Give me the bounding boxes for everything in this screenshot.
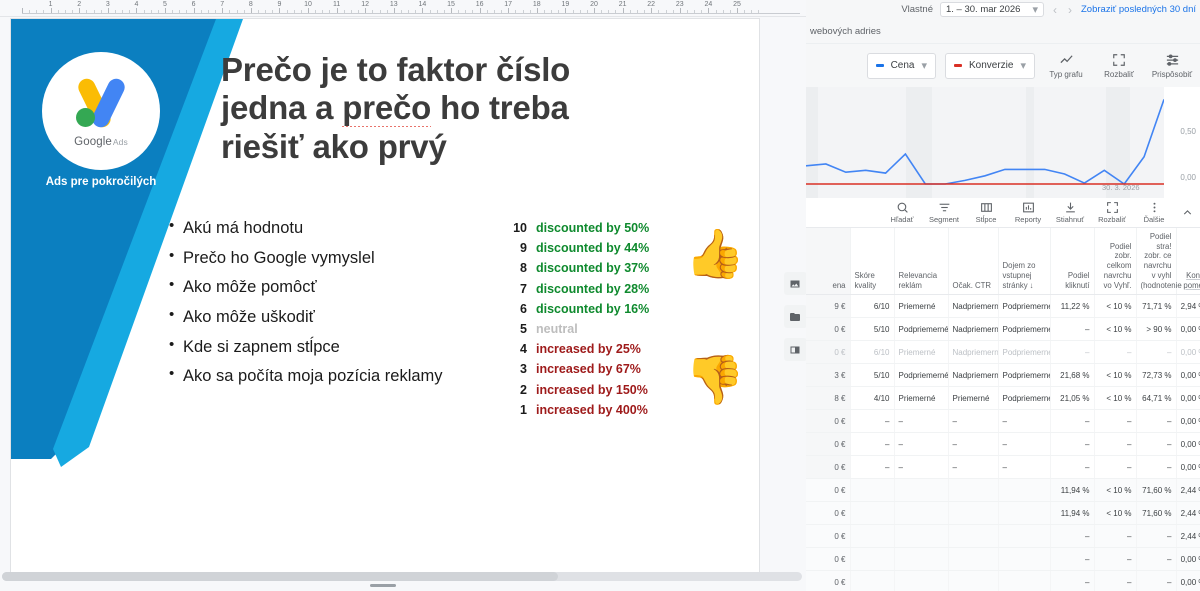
scale-number: 4 [505,342,527,356]
scale-label: discounted by 44% [536,241,649,255]
search-button[interactable]: Hľadať [882,201,922,224]
table-header-row: enaSkóre kvalityRelevancia reklámOčak. C… [806,228,1200,295]
table-cell-konv: 2,44 % [1176,502,1200,525]
ruler-tick-minor [415,10,416,13]
resize-grip[interactable] [370,584,396,587]
column-header[interactable]: Podiel zobr. celkom navrchu vo Vyhľ. [1094,228,1136,295]
scale-row: 4increased by 25% [505,342,690,356]
ruler-tick-minor [380,10,381,13]
date-range-picker[interactable]: 1. – 30. mar 2026 ▾ [940,2,1044,17]
table-cell-podiel_zobr: – [1094,456,1136,479]
table-cell-podiel_strat: 71,60 % [1136,502,1176,525]
bullet-item: Akú má hodnotu [169,219,499,237]
table-row[interactable]: 0 €11,94 %< 10 %71,60 %2,44 % [806,479,1200,502]
ruler-tick-minor [558,10,559,13]
table-row[interactable]: 9 €6/10PriemernéNadpriemernéPodpriemerné… [806,295,1200,318]
table-cell-konv: 2,94 % [1176,295,1200,318]
metrics-table-wrapper[interactable]: enaSkóre kvalityRelevancia reklámOčak. C… [806,228,1200,591]
table-cell-dojem [998,525,1050,548]
reports-label: Reporty [1015,215,1041,224]
column-header[interactable]: Relevancia reklám [894,228,948,295]
chart-type-button[interactable]: Typ grafu [1044,52,1088,79]
ruler-tick-minor [401,10,402,13]
ruler-tick-minor [351,10,352,13]
ruler-tick-minor [666,10,667,13]
column-header[interactable]: Skóre kvality [850,228,894,295]
column-header-label: Relevancia reklám [899,271,938,290]
ruler-number: 10 [304,1,312,8]
table-cell-ctr: – [948,410,998,433]
column-header-label: Skóre kvality [855,271,877,290]
table-cell-relevancia: Podpriemerné [894,364,948,387]
table-cell-relevancia [894,479,948,502]
table-row[interactable]: 0 €6/10PriemernéNadpriemernéPodpriemerné… [806,341,1200,364]
ruler-tick [194,8,195,13]
table-cell-podiel_zobr: – [1094,525,1136,548]
ruler-tick-minor [758,10,759,13]
table-cell-cena: 0 € [806,433,850,456]
scale-number: 8 [505,261,527,275]
table-row[interactable]: 0 €–––0,00 % [806,571,1200,591]
title-spellcheck-word: prečo [342,89,431,127]
chart-expand-button[interactable]: Rozbaliť [1097,53,1141,79]
table-cell-podiel_klik: – [1050,433,1094,456]
table-row[interactable]: 0 €–––0,00 % [806,548,1200,571]
ruler-tick-minor [437,10,438,13]
date-range-value: 1. – 30. mar 2026 [946,4,1020,15]
table-cell-relevancia: Priemerné [894,341,948,364]
bullet-list[interactable]: Akú má hodnotuPrečo ho Google vymyslelAk… [169,219,499,397]
table-cell-podiel_strat: – [1136,548,1176,571]
table-row[interactable]: 0 €–––––––0,00 % [806,433,1200,456]
ruler-tick-minor [151,10,152,13]
table-cell-podiel_klik: – [1050,341,1094,364]
bullet-item: Ako sa počíta moja pozícia reklamy [169,367,499,385]
ruler-tick-minor [387,10,388,13]
scale-label: discounted by 16% [536,302,649,316]
ruler-number: 13 [390,1,398,8]
ruler-tick-minor [573,10,574,13]
table-cell-podiel_strat: – [1136,410,1176,433]
ruler-tick [480,8,481,13]
date-preset-label: Vlastné [901,4,933,15]
previous-period-icon[interactable]: ‹ [1051,3,1059,17]
ruler-tick-minor [673,10,674,13]
table-cell-cena: 0 € [806,456,850,479]
ruler-tick-minor [229,10,230,13]
table-cell-podiel_strat: – [1136,525,1176,548]
title-line-1: Prečo je to faktor číslo [221,51,570,88]
table-toolbar: Hľadať Segment Stĺpce Reporty Stiahnuť R… [806,198,1200,228]
scale-row: 6discounted by 16% [505,302,690,316]
table-cell-skore: 5/10 [850,318,894,341]
table-row[interactable]: 3 €5/10PodpriemernéNadpriemernéPodprieme… [806,364,1200,387]
ruler-tick-minor [408,10,409,13]
ruler-number: 8 [249,1,253,8]
ruler-tick-minor [687,10,688,13]
ruler-tick-minor [544,10,545,13]
table-cell-podiel_klik: 11,94 % [1050,502,1094,525]
ruler-tick-minor [29,10,30,13]
column-header-label: Podiel kliknutí [1065,271,1089,290]
ruler-tick-minor [487,10,488,13]
ruler-number: 25 [733,1,741,8]
table-cell-podiel_strat: 71,60 % [1136,479,1176,502]
ruler-tick [79,8,80,13]
scale-label: increased by 67% [536,362,641,376]
ruler-tick-minor [615,10,616,13]
performance-chart[interactable]: 1,00 0,50 0,00 30. 3. 2026 [806,87,1200,198]
table-cell-skore: 5/10 [850,364,894,387]
table-cell-podiel_klik: – [1050,410,1094,433]
table-cell-dojem [998,479,1050,502]
table-cell-skore [850,479,894,502]
ruler-number: 2 [77,1,81,8]
table-cell-cena: 0 € [806,571,850,591]
segment-label: Segment [929,215,959,224]
ruler-tick-minor [658,10,659,13]
ruler-tick-minor [501,10,502,13]
table-cell-relevancia: Priemerné [894,387,948,410]
column-header[interactable]: Podiel stra! zobr. ce navrchu v vyhl (ho… [1136,228,1176,295]
ruler-number: 21 [619,1,627,8]
title-line-2-a: jedna a [221,89,342,126]
chart-toolbar: Cena ▾ Konverzie ▾ Typ grafu Rozbaliť Pr… [806,43,1200,87]
ruler-tick [394,8,395,13]
ruler-tick-minor [472,10,473,13]
title-line-3: riešiť ako prvý [221,128,447,165]
ruler-tick-minor [36,10,37,13]
ruler-tick-minor [601,10,602,13]
scale-number: 5 [505,322,527,336]
table-row[interactable]: 0 €5/10PodpriemernéNadpriemernéPodprieme… [806,318,1200,341]
ruler-tick-minor [158,10,159,13]
ruler-tick-minor [723,10,724,13]
ruler-tick-minor [694,10,695,13]
column-header-label: Očak. CTR [953,281,992,290]
chart-expand-label: Rozbaliť [1104,70,1134,79]
horizontal-scrollbar[interactable] [2,572,802,581]
ruler-tick-minor [494,10,495,13]
ruler-tick-minor [72,10,73,13]
ruler-tick [279,8,280,13]
table-cell-konv: 0,00 % [1176,341,1200,364]
table-cell-cena: 0 € [806,318,850,341]
download-label: Stiahnuť [1056,215,1084,224]
ruler-tick-minor [730,10,731,13]
slide-canvas[interactable]: GoogleAds Ads pre pokročilých Prečo je t… [10,18,760,578]
quality-score-scale: 10discounted by 50%9discounted by 44%8di… [505,221,690,423]
chevron-down-icon: ▾ [921,59,927,72]
table-cell-skore: 6/10 [850,341,894,364]
ruler-tick [537,8,538,13]
table-cell-dojem: Podpriemerné [998,318,1050,341]
scale-row: 2increased by 150% [505,383,690,397]
table-cell-podiel_klik: 11,94 % [1050,479,1094,502]
metric-selector-primary[interactable]: Cena ▾ [867,53,936,79]
ruler-tick-minor [65,10,66,13]
y-axis-tick-mid: 0,50 [1180,127,1196,136]
table-cell-podiel_strat: 71,71 % [1136,295,1176,318]
ruler-number: 5 [163,1,167,8]
more-label: Ďalšie [1144,215,1165,224]
table-cell-cena: 8 € [806,387,850,410]
scale-row: 9discounted by 44% [505,241,690,255]
table-cell-cena: 0 € [806,548,850,571]
table-row[interactable]: 8 €4/10PriemernéPriemernéPodpriemerné21,… [806,387,1200,410]
collapse-panel-button[interactable] [1176,206,1198,219]
ruler-tick-minor [587,10,588,13]
ruler-tick-minor [372,10,373,13]
ruler-tick [222,8,223,13]
table-cell-ctr: Nadpriemerné [948,341,998,364]
slide-title[interactable]: Prečo je to faktor číslo jedna a prečo h… [221,51,691,166]
metric-secondary-label: Konverzie [969,60,1013,71]
column-header[interactable]: Dojem zo vstupnej stránky ↓ [998,228,1050,295]
segment-button[interactable]: Segment [924,201,964,224]
ruler-tick-minor [744,10,745,13]
ruler-number: 17 [504,1,512,8]
ruler-tick [508,8,509,13]
column-header[interactable]: Očak. CTR [948,228,998,295]
chart-customize-label: Prispôsobiť [1152,70,1192,79]
folder-icon[interactable] [784,305,807,328]
slide-subtitle-caption: Ads pre pokročilých [29,176,173,188]
ruler-tick-minor [237,10,238,13]
download-button[interactable]: Stiahnuť [1050,201,1090,224]
table-cell-cena: 0 € [806,525,850,548]
table-cell-cena: 9 € [806,295,850,318]
table-row[interactable]: 0 €–––2,44 % [806,525,1200,548]
ruler-number: 6 [192,1,196,8]
chart-series-svg [806,87,1164,198]
logo-wordmark: GoogleAds [74,136,128,148]
table-cell-konv: 0,00 % [1176,318,1200,341]
column-header[interactable]: ena [806,228,850,295]
floating-tool-strip[interactable] [783,272,806,361]
ruler-tick-minor [144,10,145,13]
ruler-tick-minor [287,10,288,13]
table-cell-dojem: Podpriemerné [998,364,1050,387]
table-cell-konv: 0,00 % [1176,364,1200,387]
columns-button[interactable]: Stĺpce [966,201,1006,224]
table-cell-dojem [998,502,1050,525]
scale-number: 3 [505,362,527,376]
table-cell-podiel_zobr: < 10 % [1094,502,1136,525]
table-cell-ctr [948,525,998,548]
table-cell-konv: 2,44 % [1176,479,1200,502]
table-cell-podiel_strat: – [1136,341,1176,364]
ruler-tick-minor [444,10,445,13]
table-cell-cena: 0 € [806,479,850,502]
scale-row: 1increased by 400% [505,403,690,417]
ruler-number: 16 [476,1,484,8]
ruler-tick [22,8,23,13]
table-cell-podiel_strat: – [1136,456,1176,479]
ruler-number: 3 [106,1,110,8]
table-cell-podiel_zobr: – [1094,410,1136,433]
ruler-tick-minor [101,10,102,13]
bullet-item: Kde si zapnem stĺpce [169,338,499,356]
table-cell-relevancia: – [894,456,948,479]
scale-number: 9 [505,241,527,255]
ruler-number: 9 [277,1,281,8]
next-period-icon[interactable]: › [1066,3,1074,17]
scale-label: increased by 400% [536,403,648,417]
table-cell-skore [850,525,894,548]
table-cell-ctr [948,571,998,591]
table-row[interactable]: 0 €–––––––0,00 % [806,410,1200,433]
table-cell-konv: 0,00 % [1176,571,1200,591]
ruler-tick-minor [186,10,187,13]
table-cell-podiel_strat: – [1136,571,1176,591]
google-ads-logo: GoogleAds [42,52,160,170]
ruler-number: 12 [361,1,369,8]
bullet-item: Prečo ho Google vymyslel [169,249,499,267]
chart-line-cena [806,99,1164,184]
scale-label: neutral [536,322,578,336]
ruler-number: 4 [134,1,138,8]
ruler-tick-minor [344,10,345,13]
ruler-tick [108,8,109,13]
ruler-number: 24 [704,1,712,8]
ruler-tick [623,8,624,13]
table-cell-podiel_strat: 64,71 % [1136,387,1176,410]
table-cell-skore [850,571,894,591]
table-cell-cena: 3 € [806,364,850,387]
table-body: 9 €6/10PriemernéNadpriemernéPodpriemerné… [806,295,1200,591]
table-cell-dojem: – [998,456,1050,479]
ruler-tick-minor [580,10,581,13]
table-row[interactable]: 0 €11,94 %< 10 %71,60 %2,44 % [806,502,1200,525]
table-cell-ctr: – [948,456,998,479]
ruler-tick-minor [458,10,459,13]
ruler-tick [422,8,423,13]
table-cell-dojem: – [998,410,1050,433]
table-cell-podiel_klik: – [1050,456,1094,479]
ruler-tick-minor [716,10,717,13]
ruler-tick-minor [272,10,273,13]
table-expand-button[interactable]: Rozbaliť [1092,201,1132,224]
scale-number: 1 [505,403,527,417]
ruler-tick-minor [258,10,259,13]
ruler-tick-minor [86,10,87,13]
ruler-tick [251,8,252,13]
logo-dot-green [76,108,95,127]
chart-type-label: Typ grafu [1049,70,1082,79]
table-cell-dojem [998,548,1050,571]
table-cell-dojem: Podpriemerné [998,295,1050,318]
ruler-tick-minor [701,10,702,13]
scale-row: 7discounted by 28% [505,282,690,296]
horizontal-ruler[interactable]: 1234567891011121314151617181920212223242… [0,0,806,17]
table-cell-cena: 0 € [806,341,850,364]
ruler-tick-minor [530,10,531,13]
ruler-line [22,13,800,14]
table-cell-skore [850,502,894,525]
table-cell-ctr: – [948,433,998,456]
metric-primary-label: Cena [891,60,915,71]
table-cell-cena: 0 € [806,502,850,525]
chart-customize-button[interactable]: Prispôsobiť [1150,52,1194,79]
scrollbar-thumb[interactable] [2,572,558,581]
table-cell-dojem: Podpriemerné [998,387,1050,410]
table-cell-ctr: Priemerné [948,387,998,410]
scale-number: 6 [505,302,527,316]
ruler-tick [651,8,652,13]
ruler-tick-minor [58,10,59,13]
metric-color-swatch-red [954,64,962,67]
scale-row: 8discounted by 37% [505,261,690,275]
table-cell-podiel_strat: > 90 % [1136,318,1176,341]
column-header[interactable]: Podiel kliknutí [1050,228,1094,295]
insert-image-icon[interactable] [784,272,807,295]
scale-row: 10discounted by 50% [505,221,690,235]
presentation-editor: 1234567891011121314151617181920212223242… [0,0,806,591]
table-cell-podiel_klik: – [1050,318,1094,341]
ruler-tick-minor [201,10,202,13]
date-range-row: Vlastné 1. – 30. mar 2026 ▾ ‹ › Zobraziť… [806,0,1200,19]
more-options-button[interactable]: Ďalšie [1134,201,1174,224]
scale-label: discounted by 50% [536,221,649,235]
table-cell-podiel_strat: – [1136,433,1176,456]
bullet-item: Ako môže pomôcť [169,278,499,296]
ruler-tick-minor [179,10,180,13]
column-header-label: Konv. pomer [1183,271,1200,290]
table-cell-podiel_zobr: < 10 % [1094,318,1136,341]
table-cell-skore: 6/10 [850,295,894,318]
show-last-30-days-link[interactable]: Zobraziť posledných 30 dní [1081,4,1196,15]
table-cell-podiel_zobr: – [1094,571,1136,591]
ruler-tick-minor [329,10,330,13]
ruler-tick-minor [294,10,295,13]
table-cell-podiel_strat: 72,73 % [1136,364,1176,387]
scale-label: discounted by 28% [536,282,649,296]
table-cell-relevancia [894,502,948,525]
scale-label: increased by 150% [536,383,648,397]
table-cell-relevancia [894,525,948,548]
scale-number: 7 [505,282,527,296]
table-row[interactable]: 0 €–––––––0,00 % [806,456,1200,479]
columns-label: Stĺpce [976,215,997,224]
ruler-number: 22 [647,1,655,8]
ruler-tick-minor [465,10,466,13]
ruler-number: 14 [418,1,426,8]
table-cell-relevancia: Podpriemerné [894,318,948,341]
reports-button[interactable]: Reporty [1008,201,1048,224]
table-cell-podiel_zobr: – [1094,548,1136,571]
bullet-item: Ako môže uškodiť [169,308,499,326]
ruler-tick-minor [515,10,516,13]
column-header-label: ena [832,281,845,290]
google-ads-mark-icon [70,75,132,131]
ruler-number: 19 [561,1,569,8]
metric-selector-secondary[interactable]: Konverzie ▾ [945,53,1035,79]
ruler-tick-minor [265,10,266,13]
ruler-tick [365,8,366,13]
insert-chart-icon[interactable] [784,338,807,361]
table-cell-skore: – [850,410,894,433]
sort-descending-icon: ↓ [1028,281,1034,290]
thumbs-down-icon: 👎 [685,357,745,405]
scale-label: discounted by 37% [536,261,649,275]
table-cell-ctr: Nadpriemerné [948,295,998,318]
ruler-tick-minor [215,10,216,13]
table-cell-skore: – [850,433,894,456]
ruler-tick-minor [551,10,552,13]
table-cell-dojem: Podpriemerné [998,341,1050,364]
table-cell-podiel_zobr: < 10 % [1094,387,1136,410]
